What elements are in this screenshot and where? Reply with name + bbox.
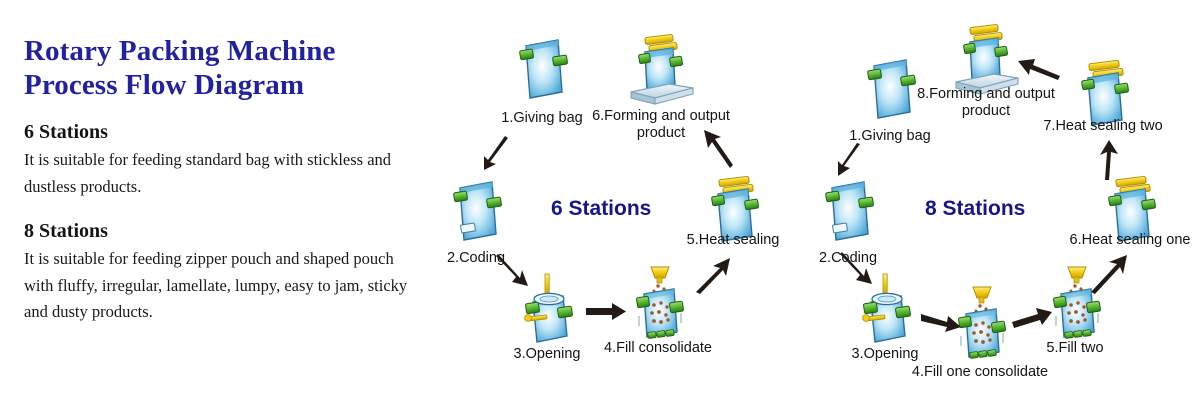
station-label: 7.Heat sealing two <box>1043 118 1162 135</box>
arrow-down-right <box>838 248 876 290</box>
arrow-down-right <box>494 250 532 292</box>
station-node-heat-sealing-two[interactable]: 7.Heat sealing two <box>1073 58 1133 130</box>
section-body: It is suitable for feeding standard bag … <box>24 147 414 200</box>
station-label: 3.Opening <box>852 346 919 363</box>
station-node-heat-sealing-one[interactable]: 6.Heat sealing one <box>1100 174 1160 246</box>
arrow-down-left <box>478 134 514 174</box>
station-label: 3.Opening <box>514 346 581 363</box>
arrow-up-right <box>1089 252 1131 296</box>
arrow-right <box>1012 306 1054 330</box>
station-node-giving-bag[interactable]: 1.Giving bag <box>512 36 572 106</box>
station-label: 5.Fill two <box>1046 340 1103 357</box>
bag-coded-icon <box>446 178 506 248</box>
station-label: 6.Heat sealing one <box>1070 232 1191 249</box>
bag-icon <box>512 36 572 106</box>
station-node-coding[interactable]: 2.Coding <box>446 178 506 248</box>
arrow-down-left <box>832 140 866 180</box>
arrow-left <box>1016 54 1062 80</box>
station-node-forming-output[interactable]: 8.Forming and output product <box>950 24 1022 98</box>
station-label: 8.Forming and output product <box>911 86 1061 119</box>
bag-coded-icon <box>818 178 878 248</box>
section-heading: 8 Stations <box>24 220 414 243</box>
diagram-title-eight-stations: 8 Stations <box>925 197 1025 221</box>
info-panel: Rotary Packing Machine Process Flow Diag… <box>24 34 414 326</box>
arrow-right <box>586 302 628 322</box>
station-label: 4.Fill consolidate <box>604 340 712 357</box>
arrow-right <box>921 310 963 334</box>
diagram-title-six-stations: 6 Stations <box>551 197 651 221</box>
station-node-coding[interactable]: 2.Coding <box>818 178 878 248</box>
bag-forming-output-icon <box>625 34 697 108</box>
arrow-up-left <box>700 126 738 170</box>
section-heading: 6 Stations <box>24 121 414 144</box>
station-node-fill-consolidate[interactable]: 4.Fill consolidate <box>628 264 688 344</box>
page-title: Rotary Packing Machine Process Flow Diag… <box>24 34 414 102</box>
arrow-up <box>1098 138 1122 182</box>
station-label: 4.Fill one consolidate <box>912 364 1048 381</box>
flow-diagram-page: Rotary Packing Machine Process Flow Diag… <box>0 0 1200 410</box>
section-eight-stations: 8 Stations It is suitable for feeding zi… <box>24 220 414 326</box>
arrow-up-right <box>694 254 734 296</box>
bag-filling-icon <box>628 264 688 344</box>
station-node-forming-output[interactable]: 6.Forming and output product <box>625 34 697 108</box>
station-label: 1.Giving bag <box>501 110 582 127</box>
section-six-stations: 6 Stations It is suitable for feeding st… <box>24 121 414 200</box>
station-node-heat-sealing[interactable]: 5.Heat sealing <box>703 174 763 246</box>
station-label: 5.Heat sealing <box>687 232 780 249</box>
section-body: It is suitable for feeding zipper pouch … <box>24 246 414 326</box>
